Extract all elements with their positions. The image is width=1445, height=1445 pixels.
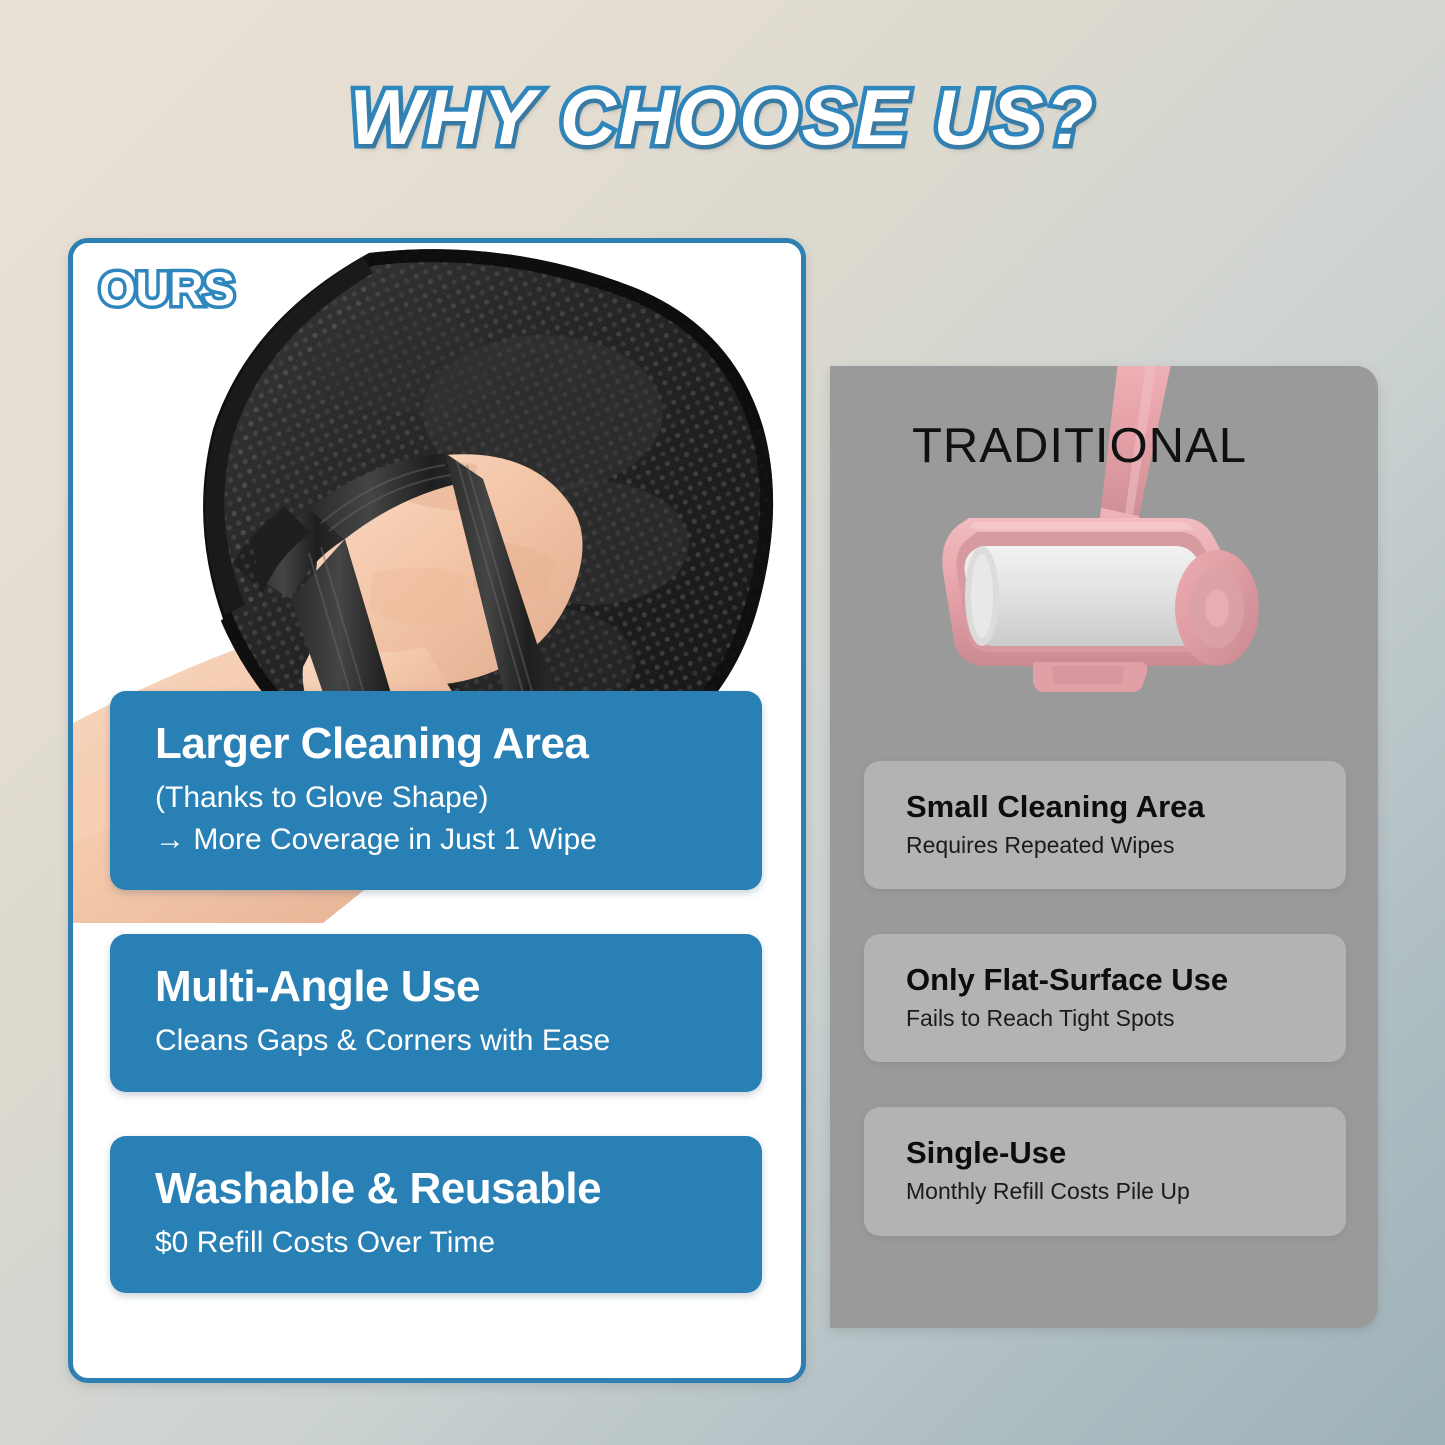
traditional-drawback-list: Small Cleaning Area Requires Repeated Wi…	[864, 761, 1346, 1281]
ours-panel: OURS Larger Cleaning Area (Thanks to Glo…	[68, 238, 806, 1383]
lint-roller-image	[925, 366, 1285, 706]
drawback-subtitle: Requires Repeated Wipes	[906, 832, 1304, 860]
drawback-subtitle: Fails to Reach Tight Spots	[906, 1005, 1304, 1033]
feature-subtitle: Cleans Gaps & Corners with Ease	[155, 1020, 717, 1061]
ours-badge: OURS	[99, 261, 235, 316]
feature-card-1: Larger Cleaning Area (Thanks to Glove Sh…	[110, 691, 762, 890]
feature-subtitle: (Thanks to Glove Shape)	[155, 777, 717, 818]
feature-subtitle: $0 Refill Costs Over Time	[155, 1222, 717, 1263]
drawback-card-2: Only Flat-Surface Use Fails to Reach Tig…	[864, 934, 1346, 1062]
feature-card-2: Multi-Angle Use Cleans Gaps & Corners wi…	[110, 934, 762, 1092]
infographic-canvas: WHY CHOOSE US?	[0, 0, 1445, 1445]
feature-title: Larger Cleaning Area	[155, 719, 717, 768]
traditional-title: TRADITIONAL	[912, 418, 1247, 474]
drawback-title: Small Cleaning Area	[906, 789, 1304, 825]
ours-feature-list: Larger Cleaning Area (Thanks to Glove Sh…	[110, 691, 762, 1337]
feature-card-3: Washable & Reusable $0 Refill Costs Over…	[110, 1136, 762, 1294]
traditional-panel: TRADITIONAL Small Cleaning Area Requires…	[830, 366, 1378, 1328]
feature-detail: → More Coverage in Just 1 Wipe	[155, 819, 717, 860]
drawback-subtitle: Monthly Refill Costs Pile Up	[906, 1178, 1304, 1206]
drawback-title: Only Flat-Surface Use	[906, 962, 1304, 998]
drawback-card-3: Single-Use Monthly Refill Costs Pile Up	[864, 1107, 1346, 1235]
page-title: WHY CHOOSE US?	[0, 72, 1445, 163]
feature-title: Multi-Angle Use	[155, 962, 717, 1011]
drawback-title: Single-Use	[906, 1135, 1304, 1171]
drawback-card-1: Small Cleaning Area Requires Repeated Wi…	[864, 761, 1346, 889]
feature-title: Washable & Reusable	[155, 1164, 717, 1213]
